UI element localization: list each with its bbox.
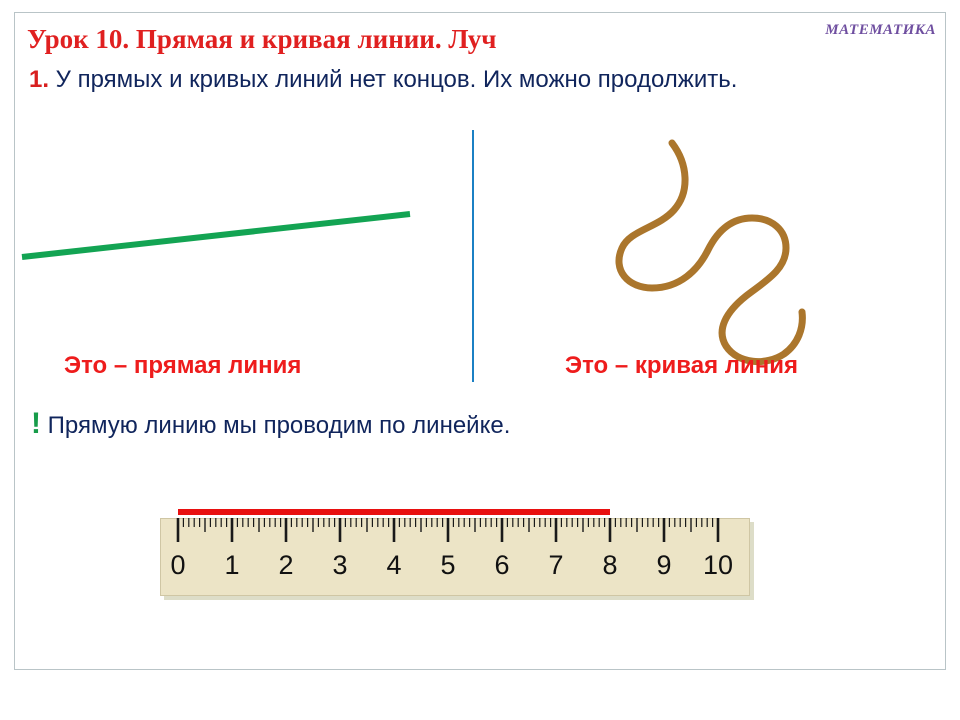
ruler-label: 1 (224, 550, 239, 580)
caption-curved-line: Это – кривая линия (565, 352, 798, 380)
ruler-label: 7 (548, 550, 563, 580)
brown-curved-line (619, 143, 802, 362)
ruler-label-group: 012345678910 (170, 550, 733, 580)
statement-block: 1. У прямых и кривых линий нет концов. И… (29, 64, 909, 95)
ruler-label: 6 (494, 550, 509, 580)
slide-canvas: Урок 10. Прямая и кривая линии. Луч МАТЕ… (0, 0, 960, 720)
straight-line-figure (10, 195, 440, 285)
vertical-divider (472, 130, 474, 382)
note-line: ! Прямую линию мы проводим по линейке. (31, 412, 510, 440)
curved-line-figure (600, 130, 840, 380)
ruler-label: 5 (440, 550, 455, 580)
ruler-label: 2 (278, 550, 293, 580)
caption-straight-line: Это – прямая линия (64, 352, 301, 380)
note-text: Прямую линию мы проводим по линейке. (41, 412, 510, 439)
subject-label: МАТЕМАТИКА (825, 22, 936, 39)
ruler-label: 3 (332, 550, 347, 580)
ruler-label: 8 (602, 550, 617, 580)
green-straight-line (22, 214, 410, 257)
ruler-label: 0 (170, 550, 185, 580)
ruler-label: 9 (656, 550, 671, 580)
statement-text: У прямых и кривых линий нет концов. Их м… (49, 66, 737, 93)
exclamation-icon: ! (31, 407, 41, 440)
ruler-label: 4 (386, 550, 401, 580)
ruler-tick-group (178, 518, 718, 542)
ruler-markings: 012345678910 (160, 502, 760, 602)
statement-number: 1. (29, 66, 49, 93)
page-title: Урок 10. Прямая и кривая линии. Луч (27, 24, 497, 55)
ruler-label: 10 (703, 550, 733, 580)
